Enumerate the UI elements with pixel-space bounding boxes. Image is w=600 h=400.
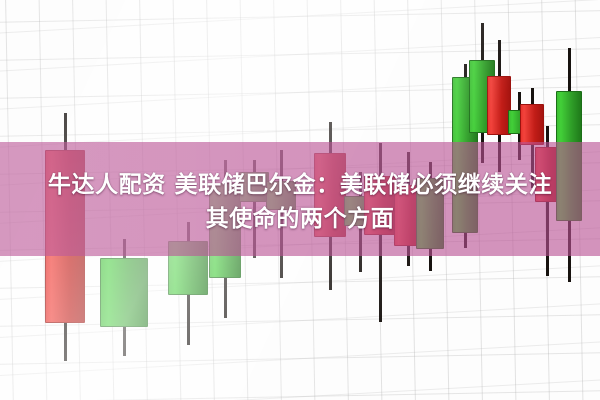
headline-line-1: 牛达人配资 美联储巴尔金：美联储必须继续关注: [48, 168, 552, 202]
headline-line-2: 其使命的两个方面: [206, 202, 395, 236]
candle-body-up: [100, 258, 148, 327]
news-thumbnail: 牛达人配资 美联储巴尔金：美联储必须继续关注 其使命的两个方面: [0, 0, 600, 400]
candlestick-2: [100, 239, 148, 356]
headline-title: 牛达人配资 美联储巴尔金：美联储必须继续关注 其使命的两个方面: [0, 160, 600, 244]
